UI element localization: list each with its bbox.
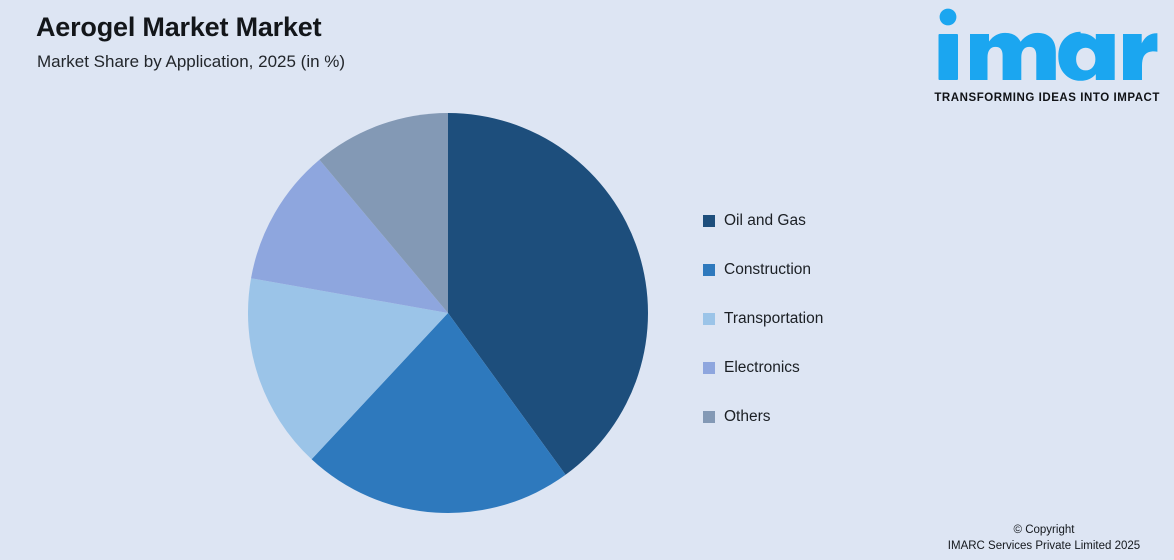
pie-chart (248, 113, 648, 513)
pie-chart-svg (248, 113, 648, 513)
pie-slice-group (248, 113, 648, 513)
legend-label-construction: Construction (724, 261, 811, 279)
legend-label-electronics: Electronics (724, 359, 800, 377)
legend-item-electronics[interactable]: Electronics (703, 343, 1003, 392)
copyright-line-1: © Copyright (924, 522, 1164, 538)
legend-item-others[interactable]: Others (703, 392, 1003, 441)
legend-item-oil-and-gas[interactable]: Oil and Gas (703, 196, 1003, 245)
legend-item-transportation[interactable]: Transportation (703, 294, 1003, 343)
legend-swatch-transportation (703, 313, 715, 325)
legend-swatch-oil-and-gas (703, 215, 715, 227)
legend-swatch-electronics (703, 362, 715, 374)
logo-tagline: TRANSFORMING IDEAS INTO IMPACT (934, 92, 1160, 104)
legend-label-transportation: Transportation (724, 310, 823, 328)
page-title: Aerogel Market Market (36, 12, 321, 43)
legend-swatch-construction (703, 264, 715, 276)
copyright-line-2: IMARC Services Private Limited 2025 (924, 538, 1164, 554)
imarc-wordmark-icon (930, 8, 1162, 82)
legend-label-oil-and-gas: Oil and Gas (724, 212, 806, 230)
copyright-block: © Copyright IMARC Services Private Limit… (924, 522, 1164, 554)
chart-page: Aerogel Market Market Market Share by Ap… (0, 0, 1174, 560)
legend-swatch-others (703, 411, 715, 423)
legend-item-construction[interactable]: Construction (703, 245, 1003, 294)
chart-legend: Oil and Gas Construction Transportation … (703, 196, 1003, 441)
imarc-logo: TRANSFORMING IDEAS INTO IMPACT (928, 6, 1166, 106)
legend-label-others: Others (724, 408, 771, 426)
page-subtitle: Market Share by Application, 2025 (in %) (37, 52, 345, 72)
